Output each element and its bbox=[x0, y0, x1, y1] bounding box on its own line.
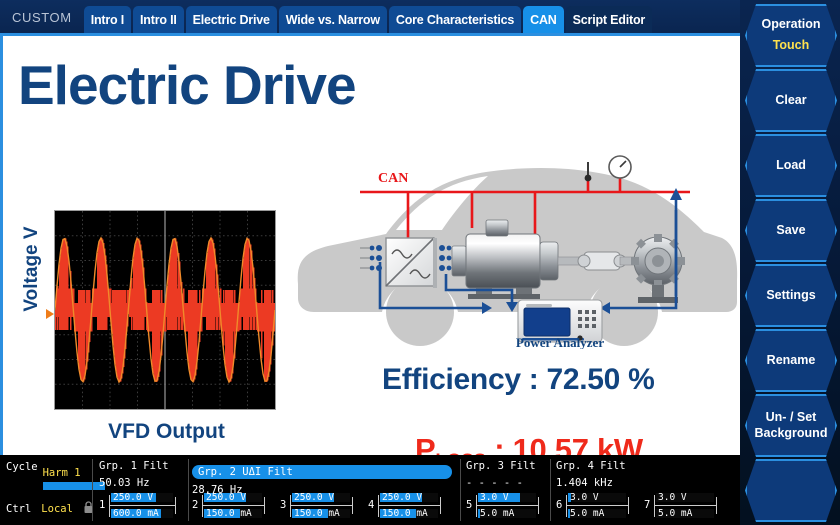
current-value: 150.0 mA bbox=[382, 508, 428, 519]
tab-core-characteristics[interactable]: Core Characteristics bbox=[389, 6, 521, 33]
scale-line bbox=[202, 505, 264, 506]
current-value: 150.0 mA bbox=[206, 508, 252, 519]
voltage-bar: 250.0 V bbox=[292, 493, 350, 502]
voltage-value: 3.0 V bbox=[570, 492, 599, 503]
sidebar-button-un-set[interactable]: Un- / SetBackground bbox=[745, 394, 837, 457]
ctrl-label: Ctrl bbox=[6, 503, 31, 515]
scale-line bbox=[378, 505, 440, 506]
tab-label: Electric Drive bbox=[193, 13, 270, 27]
scope-panel: Voltage V bbox=[14, 206, 284, 455]
scale-left-tick bbox=[109, 495, 110, 517]
group-header: Grp. 2 UΔI Filt bbox=[192, 465, 452, 479]
sidebar-button-save[interactable]: Save bbox=[745, 199, 837, 262]
efficiency-readout: Efficiency : 72.50 % bbox=[382, 363, 654, 397]
scale-right-tick bbox=[538, 497, 539, 514]
tab-electric-drive[interactable]: Electric Drive bbox=[186, 6, 277, 33]
voltage-value: 250.0 V bbox=[113, 492, 153, 503]
scope-y-axis-label: Voltage V bbox=[21, 209, 43, 329]
scale-line bbox=[290, 505, 352, 506]
voltage-value: 3.0 V bbox=[480, 492, 509, 503]
sidebar-button-empty[interactable] bbox=[745, 459, 837, 522]
sidebar-button-label: Clear bbox=[775, 93, 806, 109]
channel-meter-7[interactable]: 73.0 V5.0 mA bbox=[644, 491, 724, 521]
current-bar: 150.0 mA bbox=[292, 509, 350, 518]
tab-label: Intro I bbox=[91, 13, 124, 27]
current-value: 600.0 mA bbox=[113, 508, 159, 519]
divider bbox=[550, 459, 551, 521]
group-1[interactable]: Grp. 1 Filt 50.03 Hz bbox=[99, 460, 169, 489]
ploss-separator: : bbox=[486, 432, 513, 455]
sidebar-button-label: Rename bbox=[767, 353, 816, 369]
cycle-block: Cycle Harm 1 bbox=[6, 461, 105, 490]
divider bbox=[460, 459, 461, 521]
sidebar-button-label-line2: Background bbox=[755, 426, 828, 442]
scale-right-tick bbox=[440, 497, 441, 514]
scale-right-tick bbox=[628, 497, 629, 514]
channel-number: 5 bbox=[466, 499, 472, 511]
inverter-icon bbox=[386, 238, 437, 288]
channel-meter-2[interactable]: 2250.0 V150.0 mA bbox=[192, 491, 272, 521]
scale-right-tick bbox=[175, 497, 176, 514]
tab-bar: CUSTOM Intro IIntro IIElectric DriveWide… bbox=[0, 0, 740, 33]
power-analyzer-label: Power Analyzer bbox=[516, 335, 604, 349]
sidebar-button-label: Operation bbox=[761, 17, 820, 33]
group-value: 50.03 Hz bbox=[99, 477, 169, 489]
group-3[interactable]: Grp. 3 Filt - - - - - bbox=[466, 460, 536, 489]
channel-number: 6 bbox=[556, 499, 562, 511]
cycle-value: Harm 1 bbox=[43, 467, 81, 479]
scale-left-tick bbox=[290, 495, 291, 517]
sidebar-button-label: Load bbox=[776, 158, 806, 174]
divider bbox=[188, 459, 189, 521]
current-bar: 600.0 mA bbox=[111, 509, 173, 518]
current-bar: 150.0 mA bbox=[204, 509, 262, 518]
channel-number: 2 bbox=[192, 499, 198, 511]
channel-number: 4 bbox=[368, 499, 374, 511]
current-value: 150.0 mA bbox=[294, 508, 340, 519]
voltage-bar: 250.0 V bbox=[380, 493, 438, 502]
scale-left-tick bbox=[476, 495, 477, 517]
voltage-bar: 3.0 V bbox=[568, 493, 626, 502]
current-bar: 5.0 mA bbox=[656, 509, 714, 518]
efficiency-label: Efficiency : bbox=[382, 363, 546, 396]
voltage-value: 250.0 V bbox=[206, 492, 246, 503]
sidebar: OperationTouchClearLoadSaveSettingsRenam… bbox=[740, 0, 840, 525]
channel-meter-5[interactable]: 53.0 V5.0 mA bbox=[466, 491, 546, 521]
vfd-waveform-svg bbox=[55, 211, 275, 409]
sidebar-button-settings[interactable]: Settings bbox=[745, 264, 837, 327]
divider bbox=[92, 459, 93, 521]
tab-can[interactable]: CAN bbox=[523, 6, 563, 33]
voltage-bar: 250.0 V bbox=[204, 493, 262, 502]
sidebar-button-load[interactable]: Load bbox=[745, 134, 837, 197]
scale-line bbox=[566, 505, 628, 506]
electric-drive-diagram: CAN bbox=[290, 134, 740, 349]
voltage-bar: 3.0 V bbox=[656, 493, 714, 502]
voltage-value: 3.0 V bbox=[658, 492, 687, 503]
channel-meter-1[interactable]: 1250.0 V600.0 mA bbox=[99, 491, 183, 521]
voltage-value: 250.0 V bbox=[294, 492, 334, 503]
voltage-value: 250.0 V bbox=[382, 492, 422, 503]
channel-number: 3 bbox=[280, 499, 286, 511]
channel-meter-4[interactable]: 4250.0 V150.0 mA bbox=[368, 491, 448, 521]
tab-label: CAN bbox=[530, 13, 556, 27]
tab-label: Intro II bbox=[140, 13, 177, 27]
power-loss-readout: PLOSS : 10.57 kW bbox=[415, 432, 643, 455]
custom-label: CUSTOM bbox=[4, 10, 82, 33]
ploss-value: 10.57 kW bbox=[513, 432, 643, 455]
scope-cursor-marker[interactable] bbox=[46, 309, 54, 319]
group-header: Grp. 1 Filt bbox=[99, 460, 169, 472]
group-header: Grp. 3 Filt bbox=[466, 460, 536, 472]
sidebar-button-label: Un- / Set bbox=[766, 410, 817, 426]
ploss-symbol: P bbox=[415, 432, 435, 455]
tab-intro-ii[interactable]: Intro II bbox=[133, 6, 184, 33]
tab-label: Core Characteristics bbox=[396, 13, 514, 27]
current-bar: 5.0 mA bbox=[478, 509, 536, 518]
scope-caption: VFD Output bbox=[54, 420, 279, 444]
ctrl-value: Local bbox=[41, 503, 73, 515]
cycle-bar bbox=[43, 482, 105, 490]
current-bar: 150.0 mA bbox=[380, 509, 438, 518]
voltage-bar: 250.0 V bbox=[111, 493, 173, 502]
channel-number: 7 bbox=[644, 499, 650, 511]
can-label: CAN bbox=[378, 171, 408, 186]
sidebar-button-rename[interactable]: Rename bbox=[745, 329, 837, 392]
sidebar-button-clear[interactable]: Clear bbox=[745, 69, 837, 132]
tab-wide-vs-narrow[interactable]: Wide vs. Narrow bbox=[279, 6, 387, 33]
canvas-left-accent bbox=[0, 36, 3, 455]
sidebar-button-label: Save bbox=[776, 223, 805, 239]
group-4[interactable]: Grp. 4 Filt 1.404 kHz bbox=[556, 460, 626, 489]
group-header: Grp. 4 Filt bbox=[556, 460, 626, 472]
scale-line bbox=[476, 505, 538, 506]
group-value: 1.404 kHz bbox=[556, 477, 626, 489]
ctrl-block[interactable]: Ctrl Local bbox=[6, 499, 94, 518]
scale-line bbox=[109, 505, 175, 506]
scale-left-tick bbox=[654, 495, 655, 517]
scale-line bbox=[654, 505, 716, 506]
channel-number: 1 bbox=[99, 499, 105, 511]
current-value: 5.0 mA bbox=[570, 508, 604, 519]
tab-script-editor[interactable]: Script Editor bbox=[566, 6, 652, 33]
scale-left-tick bbox=[566, 495, 567, 517]
sidebar-button-sublabel: Touch bbox=[773, 38, 810, 54]
tab-label: Script Editor bbox=[573, 13, 645, 27]
scale-left-tick bbox=[378, 495, 379, 517]
voltage-bar: 3.0 V bbox=[478, 493, 536, 502]
current-value: 5.0 mA bbox=[480, 508, 514, 519]
tab-label: Wide vs. Narrow bbox=[286, 13, 380, 27]
scale-right-tick bbox=[264, 497, 265, 514]
current-bar: 5.0 mA bbox=[568, 509, 626, 518]
gauge-icon bbox=[609, 156, 631, 178]
group-value: - - - - - bbox=[466, 477, 536, 489]
channel-meter-3[interactable]: 3250.0 V150.0 mA bbox=[280, 491, 360, 521]
page-title: Electric Drive bbox=[18, 58, 356, 113]
channel-meter-6[interactable]: 63.0 V5.0 mA bbox=[556, 491, 636, 521]
waveform-display[interactable] bbox=[54, 210, 276, 410]
tab-intro-i[interactable]: Intro I bbox=[84, 6, 131, 33]
efficiency-value: 72.50 % bbox=[546, 363, 654, 396]
scale-right-tick bbox=[716, 497, 717, 514]
scale-left-tick bbox=[202, 495, 203, 517]
current-value: 5.0 mA bbox=[658, 508, 692, 519]
status-bar: Cycle Harm 1 Ctrl Local Grp. 1 Filt 50.0… bbox=[0, 455, 740, 525]
main-canvas: Electric Drive bbox=[0, 36, 740, 455]
cycle-label: Cycle bbox=[6, 461, 38, 473]
sidebar-button-label: Settings bbox=[766, 288, 815, 304]
scale-right-tick bbox=[352, 497, 353, 514]
sidebar-button-operation[interactable]: OperationTouch bbox=[745, 4, 837, 67]
